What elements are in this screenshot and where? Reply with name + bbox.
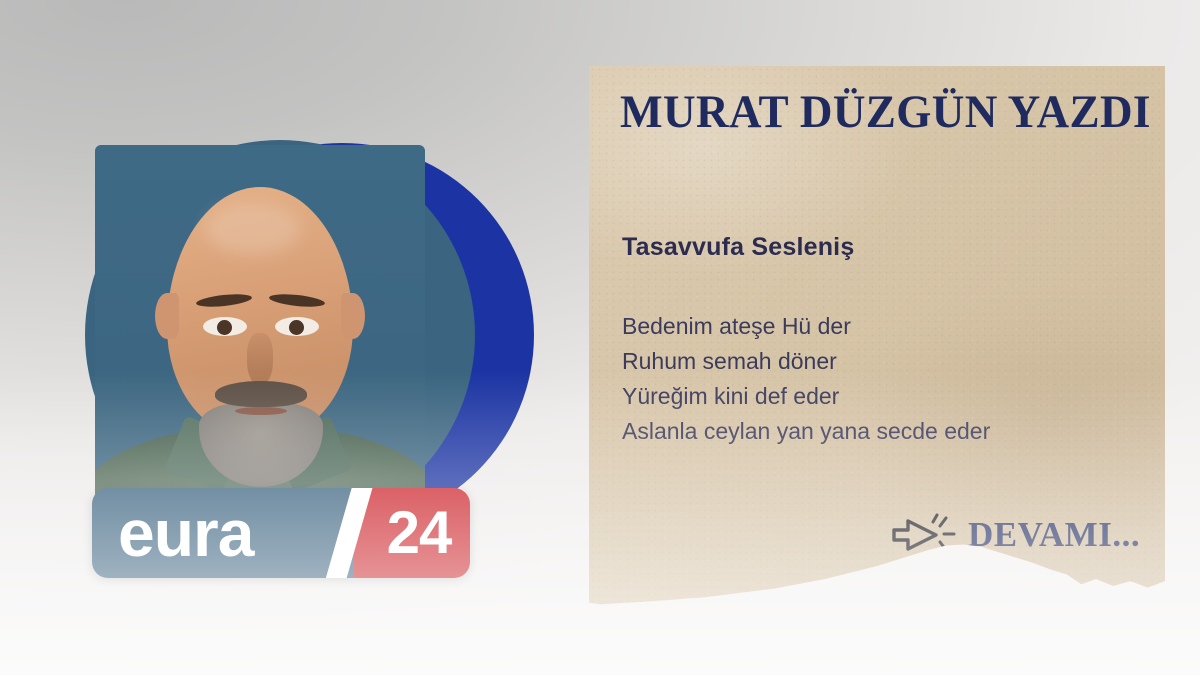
poem-body: Bedenim ateşe Hü der Ruhum semah döner Y… [622,309,1142,449]
read-more-link[interactable]: DEVAMI... [892,513,1140,557]
mouth-shape [235,407,287,415]
ear-left-shape [155,293,179,339]
logo-right-panel: 24 [354,488,470,578]
ear-right-shape [341,293,365,339]
logo-wordmark: eura [118,500,253,566]
logo-left-panel: eura [92,488,354,578]
photo-inner [95,145,425,545]
poem-line: Aslanla ceylan yan yana secde eder [622,414,1142,449]
pupil-left-shape [217,320,232,335]
click-cursor-icon [892,513,956,557]
nose-shape [247,333,273,385]
article-title: MURAT DÜZGÜN YAZDI [620,88,1119,137]
eura24-logo[interactable]: eura 24 [92,488,470,578]
poem-line: Ruhum semah döner [622,344,1142,379]
poem-title: Tasavvufa Sesleniş [622,233,854,262]
poem-line: Yüreğim kini def eder [622,379,1142,414]
author-photo [95,145,425,545]
logo-number: 24 [373,503,452,563]
scalp-highlight [205,203,301,255]
torn-paper-card: MURAT DÜZGÜN YAZDI Tasavvufa Sesleniş Be… [589,66,1165,606]
news-graphic-stage: eura 24 MURAT DÜZGÜN YAZDI Tasavvufa Ses… [0,0,1200,675]
poem-line: Bedenim ateşe Hü der [622,309,1142,344]
read-more-label: DEVAMI... [968,515,1140,555]
paper-content: MURAT DÜZGÜN YAZDI Tasavvufa Sesleniş Be… [589,66,1165,606]
moustache-shape [215,381,307,407]
pupil-right-shape [289,320,304,335]
portrait-composition: eura 24 [0,0,560,675]
